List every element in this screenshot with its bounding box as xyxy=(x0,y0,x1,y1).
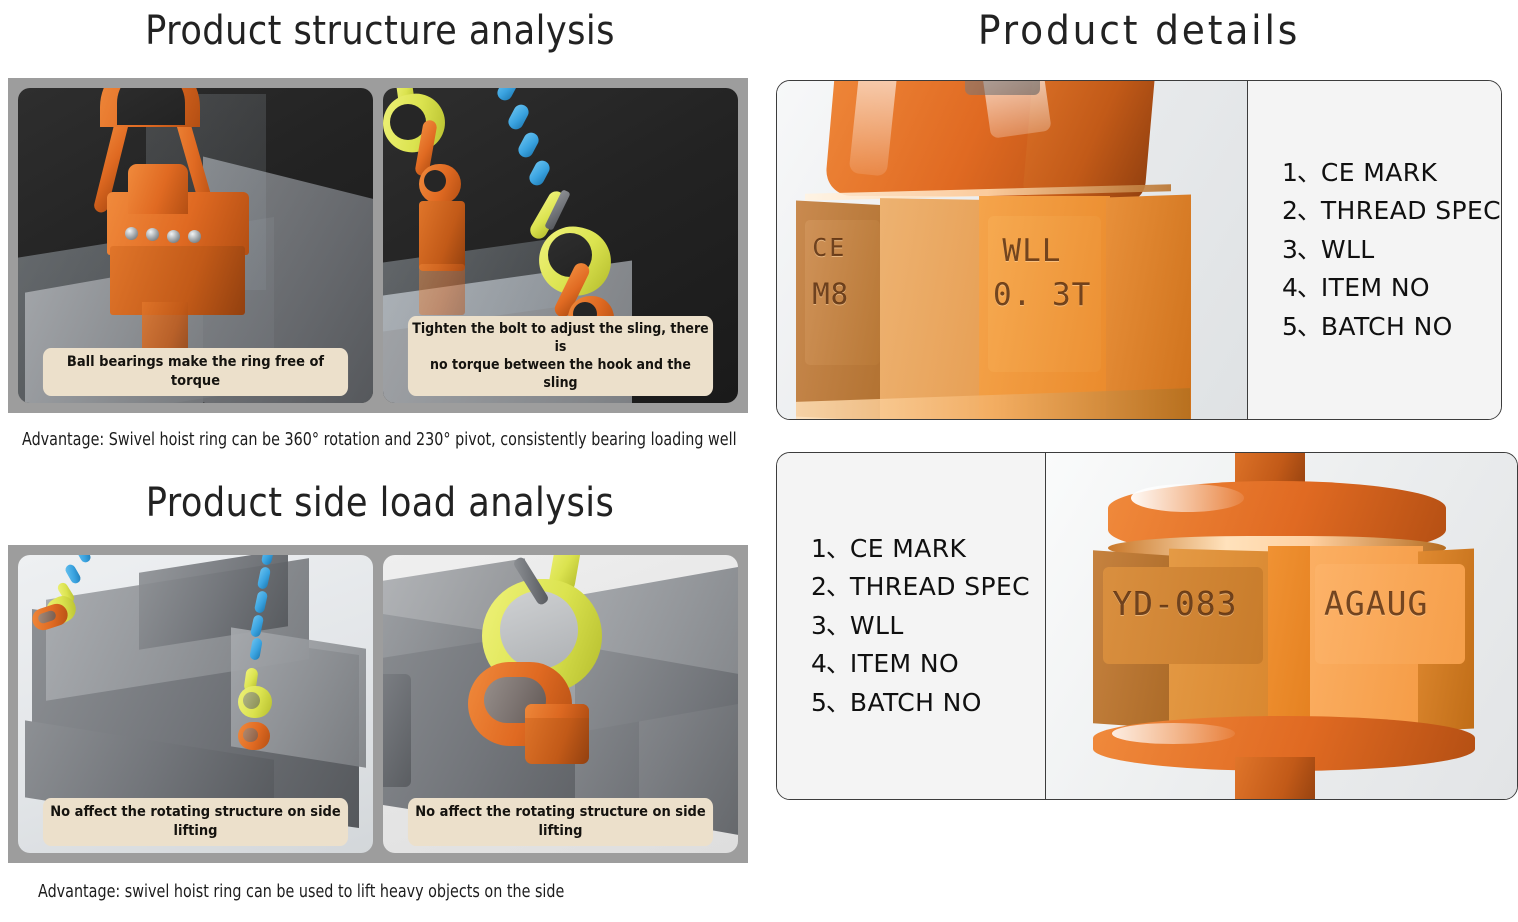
engraving-item-no: YD-083 xyxy=(1112,584,1237,623)
reflection-left xyxy=(419,264,465,314)
spec-item: 1、CE MARK xyxy=(811,530,1045,569)
chain-link xyxy=(506,102,531,132)
spec-list-top: 1、CE MARK 2、THREAD SPEC 3、WLL 4、ITEM NO … xyxy=(1248,81,1501,419)
caption-side-lift-right: No affect the rotating structure on side… xyxy=(408,798,713,846)
photo-hook-closeup: No affect the rotating structure on side… xyxy=(383,555,738,853)
advantage-structure: Advantage: Swivel hoist ring can be 360°… xyxy=(22,430,737,450)
chain-link xyxy=(516,130,541,160)
spec-number: 2、 xyxy=(1282,196,1321,225)
spec-item: 4、ITEM NO xyxy=(811,645,1045,684)
detail-card-bottom: 1、CE MARK 2、THREAD SPEC 3、WLL 4、ITEM NO … xyxy=(776,452,1518,800)
spec-number: 5、 xyxy=(1282,312,1321,341)
hoist-ring-nut-top xyxy=(525,704,589,718)
cylinder-left xyxy=(383,674,411,787)
side-load-photo-board: No affect the rotating structure on side… xyxy=(8,545,748,863)
chain-link xyxy=(495,88,520,103)
hex-facet-right xyxy=(1106,194,1191,419)
spec-number: 3、 xyxy=(811,611,850,640)
spec-label: BATCH NO xyxy=(1321,312,1453,341)
engraving-wll-value: 0. 3T xyxy=(993,277,1091,313)
structure-photo-board: Ball bearings make the ring free of torq… xyxy=(8,78,748,413)
card-photo-item-batch: YD-083 AGAUG xyxy=(1046,453,1517,799)
spec-label: WLL xyxy=(850,611,904,640)
spec-item: 2、THREAD SPEC xyxy=(811,568,1045,607)
caption-tighten-bolt: Tighten the bolt to adjust the sling, th… xyxy=(408,316,713,396)
scene-wll-closeup: CE M8 WLL 0. 3T xyxy=(777,81,1247,419)
scene-item-batch-closeup: YD-083 AGAUG xyxy=(1046,453,1517,799)
left-column: Product structure analysis xyxy=(0,0,760,922)
spec-item: 2、THREAD SPEC xyxy=(1282,192,1501,231)
section-title-side-load: Product side load analysis xyxy=(46,480,715,526)
card-photo-wll: CE M8 WLL 0. 3T xyxy=(777,81,1247,419)
photo-ball-bearing-cutaway: Ball bearings make the ring free of torq… xyxy=(18,88,373,403)
caption-side-lift-left: No affect the rotating structure on side… xyxy=(43,798,348,846)
hex-facet-center xyxy=(1268,546,1315,729)
spec-number: 1、 xyxy=(1282,158,1321,187)
engraving-ce: CE xyxy=(812,233,846,262)
highlight-base xyxy=(1112,723,1234,744)
product-marketing-page: Product structure analysis xyxy=(0,0,1518,922)
ball-bearing xyxy=(167,230,180,243)
spec-item: 5、BATCH NO xyxy=(1282,308,1501,347)
spec-number: 2、 xyxy=(811,572,850,601)
spec-label: ITEM NO xyxy=(850,649,959,678)
right-column: Product details xyxy=(760,0,1518,922)
spec-label: BATCH NO xyxy=(850,688,982,717)
detail-card-top: CE M8 WLL 0. 3T 1、CE MARK 2、THREAD SPEC … xyxy=(776,80,1502,420)
bail-arc-inner xyxy=(117,88,185,125)
hex-facet-left xyxy=(880,198,983,419)
spec-list-bottom: 1、CE MARK 2、THREAD SPEC 3、WLL 4、ITEM NO … xyxy=(777,453,1045,799)
spec-label: THREAD SPEC xyxy=(850,572,1030,601)
spec-label: CE MARK xyxy=(850,534,966,563)
spec-label: WLL xyxy=(1321,235,1375,264)
caption-line-1: Tighten the bolt to adjust the sling, th… xyxy=(412,321,708,355)
highlight-collar xyxy=(1131,484,1244,512)
chain-link xyxy=(74,555,93,564)
bail-stub xyxy=(965,81,1040,95)
photo-machine-lift: No affect the rotating structure on side… xyxy=(18,555,373,853)
spec-label: ITEM NO xyxy=(1321,273,1430,302)
spec-item: 3、WLL xyxy=(811,607,1045,646)
caption-line-2: no torque between the hook and the sling xyxy=(430,357,691,391)
spec-number: 4、 xyxy=(1282,273,1321,302)
photo-chain-hook: Tighten the bolt to adjust the sling, th… xyxy=(383,88,738,403)
product-threaded-stud xyxy=(1235,757,1315,799)
chain-link xyxy=(527,158,552,188)
spec-number: 5、 xyxy=(811,688,850,717)
spec-number: 1、 xyxy=(811,534,850,563)
spec-label: CE MARK xyxy=(1321,158,1437,187)
caption-ball-bearings: Ball bearings make the ring free of torq… xyxy=(43,348,348,396)
section-title-structure: Product structure analysis xyxy=(46,8,715,54)
spec-label: THREAD SPEC xyxy=(1321,196,1501,225)
ball-bearing xyxy=(125,227,138,240)
chain-link xyxy=(63,563,82,585)
engraving-batch-no: AGAUG xyxy=(1324,584,1428,623)
spec-item: 4、ITEM NO xyxy=(1282,269,1501,308)
hoist-ring-body-left xyxy=(419,201,465,270)
spec-number: 3、 xyxy=(1282,235,1321,264)
advantage-side-load: Advantage: swivel hoist ring can be used… xyxy=(38,882,564,902)
spec-item: 3、WLL xyxy=(1282,231,1501,270)
engraving-thread-spec: M8 xyxy=(812,277,849,311)
spec-item: 5、BATCH NO xyxy=(811,684,1045,723)
spec-item: 1、CE MARK xyxy=(1282,154,1501,193)
orange-ring-left-inner xyxy=(424,170,446,192)
spec-number: 4、 xyxy=(811,649,850,678)
swivel-pin xyxy=(128,164,188,214)
ball-bearing xyxy=(146,228,159,241)
section-title-product-details: Product details xyxy=(783,8,1496,54)
engraving-wll-label: WLL xyxy=(1002,233,1061,269)
